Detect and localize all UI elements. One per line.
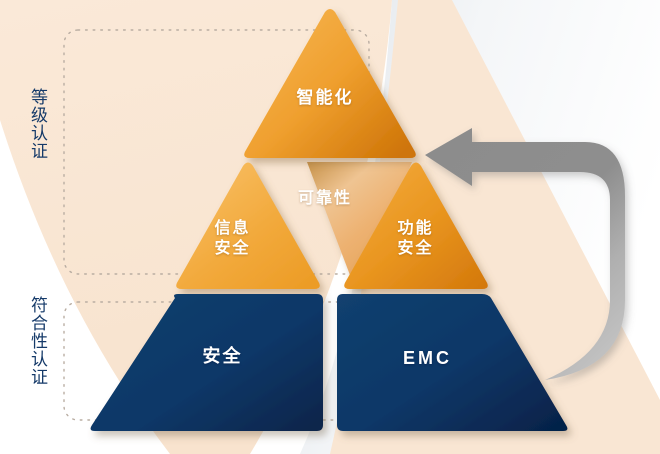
diagram-canvas: 等级认证 符合性认证 智能化 可靠性 信息 安全 功能 安全 安全 EMC	[0, 0, 660, 454]
label-compliance-certification: 符合性认证	[28, 296, 47, 386]
label-level-certification: 等级认证	[28, 88, 47, 160]
node-smart-shape[interactable]	[244, 9, 416, 158]
node-emc-shape[interactable]	[337, 294, 567, 431]
node-safety-shape[interactable]	[91, 294, 323, 431]
pyramid-shapes	[0, 0, 660, 454]
node-infosec-shape[interactable]	[176, 163, 320, 290]
